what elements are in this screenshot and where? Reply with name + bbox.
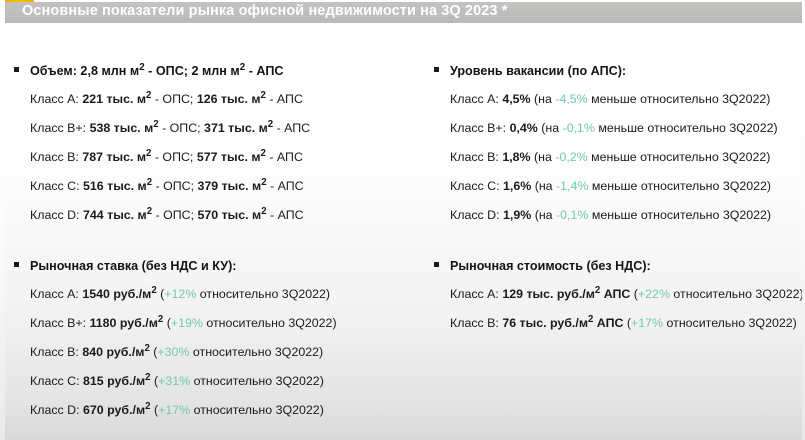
metric-row: Класс В: 787 тыс. м2 - ОПС; 577 тыс. м2 … (14, 143, 424, 172)
metric-label: Класс В: (30, 345, 82, 359)
metric-row: Класс D: 670 руб./м2 (+17% относительно … (14, 396, 424, 425)
metric-delta-open: (на (531, 150, 556, 164)
metric-delta-value: +19% (171, 316, 203, 330)
metric-tail: - АПС (267, 179, 304, 193)
metric-label: Класс В+: (30, 121, 90, 135)
metric-tail: - АПС (273, 121, 310, 135)
metric-value: 1,6% (503, 179, 531, 193)
metric-delta-value: +17% (158, 403, 190, 417)
metric-row: Класс А: 129 тыс. руб./м2 АПС (+22% отно… (434, 280, 802, 309)
metric-value: 1,9% (503, 208, 531, 222)
metric-row: Класс В: 840 руб./м2 (+30% относительно … (14, 338, 424, 367)
metric-tail: относительно 3Q2022) (189, 345, 323, 359)
metric-value: 76 тыс. руб./м2 АПС (502, 316, 623, 330)
metric-row: Класс С: 1,6% (на -1,4% меньше относител… (434, 172, 802, 201)
metric-row: Класс В+: 0,4% (на -0,1% меньше относите… (434, 114, 802, 143)
metric-label: Класс В+: (450, 121, 510, 135)
metric-delta-value: +17% (631, 316, 663, 330)
metric-separator: - ОПС; (151, 92, 196, 106)
metric-value-secondary: 379 тыс. м2 (198, 179, 267, 193)
metric-separator: - ОПС; (151, 150, 196, 164)
metric-row: Класс В: 1,8% (на -0,2% меньше относител… (434, 143, 802, 172)
metric-delta-value: -0,1% (556, 208, 588, 222)
metric-value: 221 тыс. м2 (82, 92, 151, 106)
metric-value: 538 тыс. м2 (90, 121, 159, 135)
metric-delta-value: -0,1% (563, 121, 595, 135)
metric-value: 129 тыс. руб./м2 АПС (502, 287, 630, 301)
metric-delta-open: ( (163, 316, 171, 330)
metric-tail: - АПС (266, 150, 303, 164)
metric-block-heading-label: Уровень вакансии (по АПС): (450, 64, 626, 78)
metric-value: 744 тыс. м2 (83, 208, 152, 222)
metric-label: Класс С: (450, 179, 503, 193)
metric-label: Класс В: (450, 316, 502, 330)
slide-left-edge (0, 0, 5, 440)
metric-value-secondary: 371 тыс. м2 (204, 121, 273, 135)
metric-delta-value: +22% (638, 287, 670, 301)
metric-label: Класс С: (30, 374, 83, 388)
metric-tail: меньше относительно 3Q2022) (588, 208, 771, 222)
metric-block-heading: Рыночная ставка (без НДС и КУ): (14, 251, 424, 280)
metric-tail: меньше относительно 3Q2022) (595, 121, 778, 135)
metric-block-heading-label: Объем: 2,8 млн м2 - ОПС; 2 млн м2 - АПС (30, 64, 283, 78)
metric-tail: относительно 3Q2022) (196, 287, 330, 301)
metric-label: Класс А: (30, 92, 82, 106)
metric-separator: - ОПС; (159, 121, 204, 135)
metric-delta-open: (на (531, 92, 556, 106)
metric-row: Класс С: 815 руб./м2 (+31% относительно … (14, 367, 424, 396)
metric-separator: - ОПС; (152, 208, 197, 222)
bullet-square-icon (434, 67, 439, 72)
metric-label: Класс D: (30, 403, 83, 417)
metric-row: Класс В+: 538 тыс. м2 - ОПС; 371 тыс. м2… (14, 114, 424, 143)
metric-row: Класс А: 221 тыс. м2 - ОПС; 126 тыс. м2 … (14, 85, 424, 114)
metric-value: 4,5% (502, 92, 530, 106)
metric-value: 670 руб./м2 (83, 403, 151, 417)
metric-delta-open: ( (151, 403, 159, 417)
metric-separator: - ОПС; (152, 179, 197, 193)
slide-content: Объем: 2,8 млн м2 - ОПС; 2 млн м2 - АПСК… (0, 23, 805, 440)
metric-label: Класс А: (450, 287, 502, 301)
metric-tail: меньше относительно 3Q2022) (588, 150, 771, 164)
bullet-square-icon (14, 262, 19, 267)
metric-label: Класс А: (30, 287, 82, 301)
metric-delta-value: -0,2% (555, 150, 587, 164)
metric-value-secondary: 126 тыс. м2 (197, 92, 266, 106)
slide-canvas: Основные показатели рынка офисной недвиж… (0, 0, 805, 440)
metric-value: 787 тыс. м2 (82, 150, 151, 164)
metric-row: Класс В: 76 тыс. руб./м2 АПС (+17% относ… (434, 309, 802, 338)
metric-label: Класс D: (30, 208, 83, 222)
metric-row: Класс D: 744 тыс. м2 - ОПС; 570 тыс. м2 … (14, 201, 424, 230)
metric-tail: меньше относительно 3Q2022) (588, 92, 771, 106)
metric-row: Класс D: 1,9% (на -0,1% меньше относител… (434, 201, 802, 230)
metric-tail: относительно 3Q2022) (670, 287, 804, 301)
metric-row: Класс В+: 1180 руб./м2 (+19% относительн… (14, 309, 424, 338)
metric-tail: меньше относительно 3Q2022) (588, 179, 771, 193)
metric-block-heading: Рыночная стоимость (без НДС): (434, 251, 802, 280)
metric-tail: относительно 3Q2022) (203, 316, 337, 330)
metric-tail: относительно 3Q2022) (663, 316, 797, 330)
metric-block-heading: Объем: 2,8 млн м2 - ОПС; 2 млн м2 - АПС (14, 56, 424, 85)
metric-delta-open: ( (623, 316, 631, 330)
metric-row: Класс А: 4,5% (на -4,5% меньше относител… (434, 85, 802, 114)
metric-tail: относительно 3Q2022) (190, 403, 324, 417)
metric-block-heading: Уровень вакансии (по АПС): (434, 56, 802, 85)
metric-delta-open: ( (151, 374, 159, 388)
metric-delta-open: (на (531, 179, 556, 193)
metric-label: Класс С: (30, 179, 83, 193)
metric-block: Рыночная ставка (без НДС и КУ):Класс А: … (14, 251, 424, 425)
bullet-square-icon (434, 262, 439, 267)
metric-delta-value: +31% (158, 374, 190, 388)
metric-value: 1180 руб./м2 (90, 316, 164, 330)
metric-row: Класс А: 1540 руб./м2 (+12% относительно… (14, 280, 424, 309)
metric-delta-open: (на (538, 121, 563, 135)
metric-value: 1,8% (502, 150, 530, 164)
metric-delta-open: ( (630, 287, 638, 301)
metric-value: 815 руб./м2 (83, 374, 151, 388)
metric-row: Класс С: 516 тыс. м2 - ОПС; 379 тыс. м2 … (14, 172, 424, 201)
metric-value-secondary: 577 тыс. м2 (197, 150, 266, 164)
metric-block: Уровень вакансии (по АПС):Класс А: 4,5% … (434, 56, 802, 230)
metric-delta-value: -1,4% (556, 179, 588, 193)
metric-value: 0,4% (510, 121, 538, 135)
metric-value: 516 тыс. м2 (83, 179, 152, 193)
metric-label: Класс В: (450, 150, 502, 164)
metric-label: Класс В: (30, 150, 82, 164)
metric-delta-value: +12% (164, 287, 196, 301)
metric-block-heading-label: Рыночная стоимость (без НДС): (450, 259, 651, 273)
metric-label: Класс А: (450, 92, 502, 106)
metric-tail: относительно 3Q2022) (190, 374, 324, 388)
metric-block-heading-label: Рыночная ставка (без НДС и КУ): (30, 259, 237, 273)
metric-label: Класс D: (450, 208, 503, 222)
metric-delta-value: -4,5% (555, 92, 587, 106)
metric-value-secondary: 570 тыс. м2 (198, 208, 267, 222)
metric-block: Рыночная стоимость (без НДС):Класс А: 12… (434, 251, 802, 338)
metric-tail: - АПС (267, 208, 304, 222)
metric-delta-value: +30% (157, 345, 189, 359)
metric-tail: - АПС (266, 92, 303, 106)
metric-value: 840 руб./м2 (82, 345, 150, 359)
page-title: Основные показатели рынка офисной недвиж… (22, 3, 507, 19)
metric-block: Объем: 2,8 млн м2 - ОПС; 2 млн м2 - АПСК… (14, 56, 424, 230)
metric-delta-open: (на (531, 208, 556, 222)
bullet-square-icon (14, 67, 19, 72)
metric-value: 1540 руб./м2 (82, 287, 156, 301)
metric-label: Класс В+: (30, 316, 90, 330)
